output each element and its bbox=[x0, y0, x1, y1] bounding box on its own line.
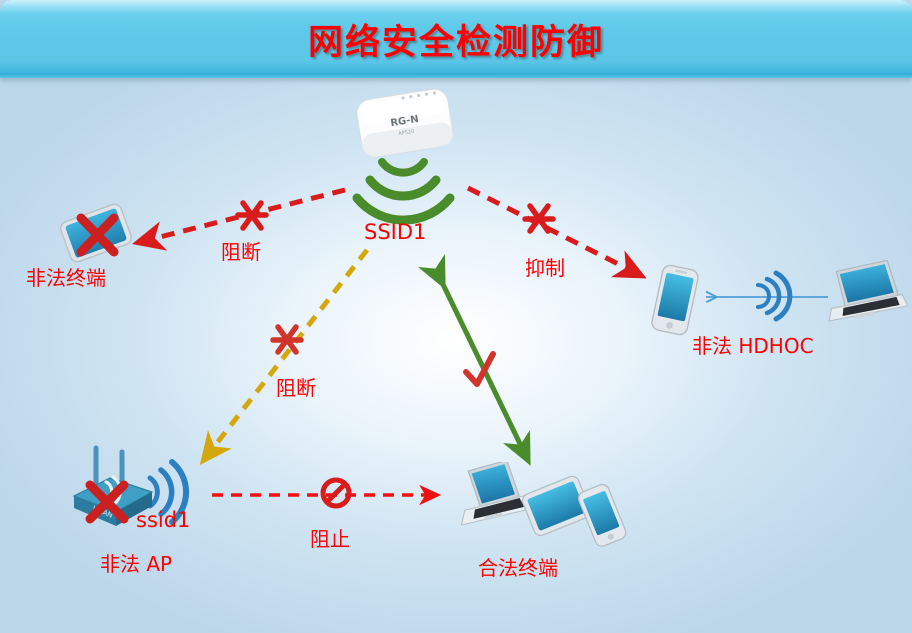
attacker-laptop-icon bbox=[818, 260, 908, 337]
title-banner: 网络安全检测防御 bbox=[0, 0, 912, 78]
edge-block-ap bbox=[210, 250, 367, 452]
laptop-icon bbox=[452, 462, 532, 525]
legal-terminals-label: 合法终端 bbox=[478, 552, 558, 581]
asterisk-marker-icon bbox=[238, 203, 266, 228]
wifi-arcs-adhoc-icon bbox=[758, 273, 790, 319]
edge-block-ap-label: 阻断 bbox=[276, 372, 316, 401]
rogue-ap-ssid-label: ssid1 bbox=[136, 508, 190, 532]
wireless-access-point-icon: RG-N AP520 bbox=[345, 84, 465, 169]
ssid-label: SSID1 bbox=[364, 220, 426, 244]
edge-allow-legal bbox=[438, 274, 523, 450]
rogue-ap-label: 非法 AP bbox=[100, 548, 172, 577]
page-title: 网络安全检测防御 bbox=[0, 14, 912, 65]
banner-gloss bbox=[0, 0, 912, 14]
asterisk-marker-icon bbox=[273, 327, 301, 352]
asterisk-marker-icon bbox=[525, 206, 553, 231]
edge-prohibit-ap-to-legal bbox=[212, 480, 430, 506]
edge-block-terminal bbox=[148, 190, 345, 240]
rogue-terminal-label: 非法终端 bbox=[26, 262, 106, 291]
check-marker-icon bbox=[466, 354, 493, 384]
rogue-adhoc-label: 非法 HDHOC bbox=[692, 330, 814, 359]
diagram-canvas: 网络安全检测防御 bbox=[0, 0, 912, 633]
edge-block-terminal-label: 阻断 bbox=[221, 236, 261, 265]
edge-suppress-adhoc-label: 抑制 bbox=[525, 252, 565, 281]
wifi-arcs-green-icon bbox=[357, 162, 450, 220]
edge-prohibit-label: 阻止 bbox=[310, 523, 350, 552]
no-entry-marker-icon bbox=[323, 480, 349, 506]
